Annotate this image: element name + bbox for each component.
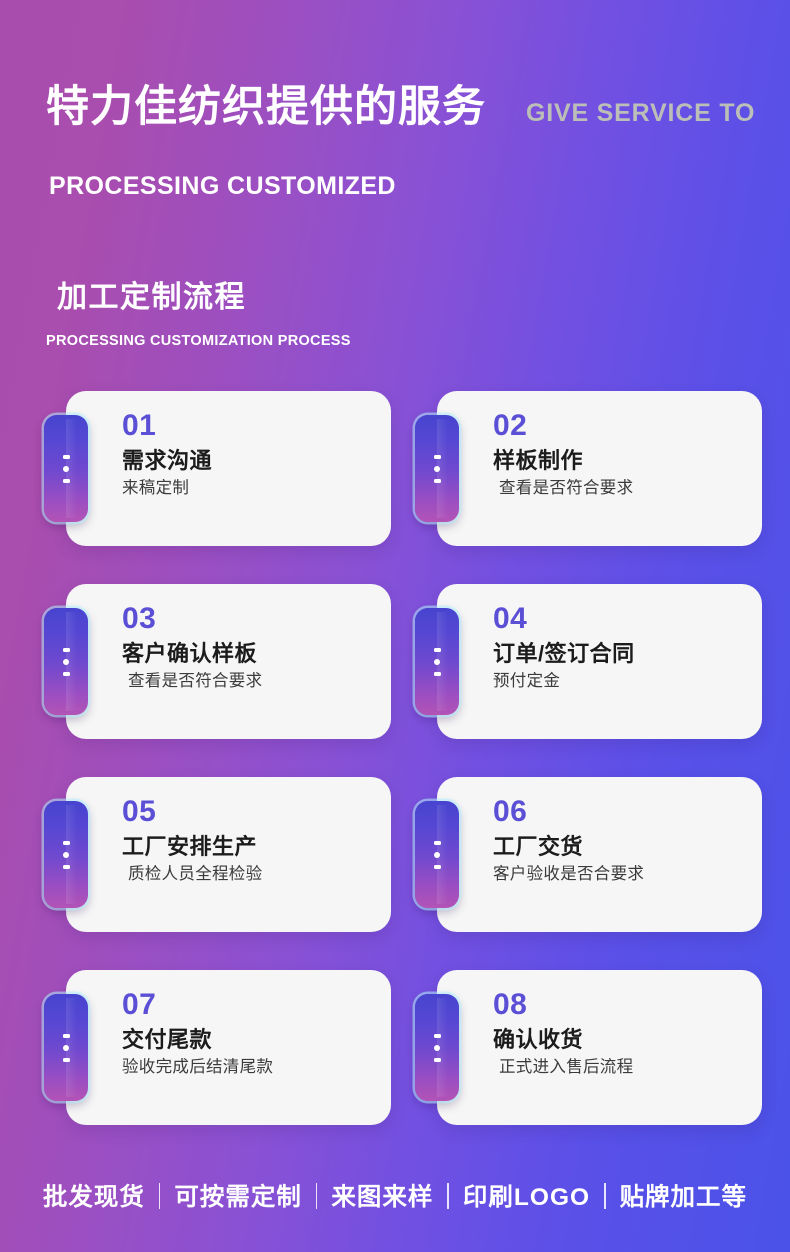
- step-number: 02: [493, 410, 752, 442]
- step-number: 03: [122, 603, 381, 635]
- dot-bottom: [434, 672, 441, 676]
- step-row: 03 客户确认样板 查看是否符合要求 04 订单/签订合同 预付定金: [0, 584, 790, 777]
- dot-bottom: [63, 672, 70, 676]
- step-cell: 01 需求沟通 来稿定制: [66, 391, 391, 546]
- three-dots-icon: [44, 994, 88, 1101]
- step-title: 工厂安排生产: [122, 833, 381, 861]
- step-card-body: 02 样板制作 查看是否符合要求: [493, 410, 752, 499]
- step-card-06[interactable]: 06 工厂交货 客户验收是否合要求: [437, 777, 762, 932]
- step-card-body: 06 工厂交货 客户验收是否合要求: [493, 796, 752, 885]
- step-number: 04: [493, 603, 752, 635]
- dot-middle: [63, 466, 69, 472]
- process-steps-grid: 01 需求沟通 来稿定制 02 样板制作 查看是否符合要求: [0, 391, 790, 1163]
- step-number: 07: [122, 989, 381, 1021]
- step-number: 08: [493, 989, 752, 1021]
- dot-bottom: [434, 479, 441, 483]
- dot-bottom: [63, 479, 70, 483]
- step-cell: 02 样板制作 查看是否符合要求: [437, 391, 762, 546]
- dot-bottom: [63, 865, 70, 869]
- step-description: 客户验收是否合要求: [493, 864, 752, 885]
- dot-middle: [63, 1045, 69, 1051]
- step-row: 05 工厂安排生产 质检人员全程检验 06 工厂交货 客户验收是否合要: [0, 777, 790, 970]
- step-card-07[interactable]: 07 交付尾款 验收完成后结清尾款: [66, 970, 391, 1125]
- dot-top: [434, 1034, 441, 1038]
- step-cell: 08 确认收货 正式进入售后流程: [437, 970, 762, 1125]
- dot-top: [434, 648, 441, 652]
- step-title: 需求沟通: [122, 447, 381, 475]
- dot-top: [63, 455, 70, 459]
- step-description: 查看是否符合要求: [122, 671, 381, 692]
- dot-middle: [434, 852, 440, 858]
- section-title-english: PROCESSING CUSTOMIZATION PROCESS: [46, 333, 351, 349]
- footer-item-0: 批发现货: [29, 1178, 159, 1213]
- header-title-row: 特力佳纺织提供的服务 GIVE SERVICE TO: [46, 83, 776, 131]
- step-row: 07 交付尾款 验收完成后结清尾款 08 确认收货 正式进入售后流程: [0, 970, 790, 1163]
- dot-middle: [434, 659, 440, 665]
- three-dots-icon: [415, 415, 459, 522]
- step-card-01[interactable]: 01 需求沟通 来稿定制: [66, 391, 391, 546]
- step-description: 预付定金: [493, 671, 752, 692]
- step-row: 01 需求沟通 来稿定制 02 样板制作 查看是否符合要求: [0, 391, 790, 584]
- dot-middle: [434, 1045, 440, 1051]
- step-card-05[interactable]: 05 工厂安排生产 质检人员全程检验: [66, 777, 391, 932]
- dot-middle: [63, 852, 69, 858]
- page-title-english: GIVE SERVICE TO: [526, 99, 755, 128]
- step-description: 质检人员全程检验: [122, 864, 381, 885]
- step-cell: 07 交付尾款 验收完成后结清尾款: [66, 970, 391, 1125]
- page-title: 特力佳纺织提供的服务: [46, 83, 486, 131]
- step-cell: 05 工厂安排生产 质检人员全程检验: [66, 777, 391, 932]
- step-card-body: 01 需求沟通 来稿定制: [122, 410, 381, 499]
- footer-item-4: 贴牌加工等: [606, 1178, 762, 1213]
- step-card-body: 08 确认收货 正式进入售后流程: [493, 989, 752, 1078]
- page-subtitle-english: PROCESSING CUSTOMIZED: [49, 172, 396, 201]
- three-dots-icon: [415, 994, 459, 1101]
- dot-top: [434, 455, 441, 459]
- footer-item-2: 来图来样: [317, 1178, 447, 1213]
- step-cell: 03 客户确认样板 查看是否符合要求: [66, 584, 391, 739]
- dot-top: [63, 841, 70, 845]
- step-card-08[interactable]: 08 确认收货 正式进入售后流程: [437, 970, 762, 1125]
- step-cell: 04 订单/签订合同 预付定金: [437, 584, 762, 739]
- step-card-body: 05 工厂安排生产 质检人员全程检验: [122, 796, 381, 885]
- step-title: 确认收货: [493, 1026, 752, 1054]
- step-card-02[interactable]: 02 样板制作 查看是否符合要求: [437, 391, 762, 546]
- three-dots-icon: [44, 608, 88, 715]
- step-title: 订单/签订合同: [493, 640, 752, 668]
- step-title: 样板制作: [493, 447, 752, 475]
- step-description: 查看是否符合要求: [493, 478, 752, 499]
- section-title: 加工定制流程: [57, 272, 246, 316]
- step-card-04[interactable]: 04 订单/签订合同 预付定金: [437, 584, 762, 739]
- dot-bottom: [434, 865, 441, 869]
- three-dots-icon: [415, 801, 459, 908]
- step-number: 06: [493, 796, 752, 828]
- step-description: 来稿定制: [122, 478, 381, 499]
- dot-top: [63, 1034, 70, 1038]
- step-cell: 06 工厂交货 客户验收是否合要求: [437, 777, 762, 932]
- step-number: 01: [122, 410, 381, 442]
- three-dots-icon: [44, 801, 88, 908]
- footer-item-1: 可按需定制: [160, 1178, 316, 1213]
- footer-services-bar: 批发现货 可按需定制 来图来样 印刷LOGO 贴牌加工等: [0, 1178, 790, 1213]
- step-card-body: 03 客户确认样板 查看是否符合要求: [122, 603, 381, 692]
- promo-page: 特力佳纺织提供的服务 GIVE SERVICE TO PROCESSING CU…: [0, 0, 790, 1252]
- step-description: 验收完成后结清尾款: [122, 1057, 381, 1078]
- three-dots-icon: [415, 608, 459, 715]
- dot-middle: [434, 466, 440, 472]
- dot-bottom: [434, 1058, 441, 1062]
- step-card-body: 04 订单/签订合同 预付定金: [493, 603, 752, 692]
- three-dots-icon: [44, 415, 88, 522]
- dot-middle: [63, 659, 69, 665]
- dot-top: [434, 841, 441, 845]
- step-title: 客户确认样板: [122, 640, 381, 668]
- step-card-03[interactable]: 03 客户确认样板 查看是否符合要求: [66, 584, 391, 739]
- footer-item-3: 印刷LOGO: [449, 1178, 604, 1213]
- dot-bottom: [63, 1058, 70, 1062]
- step-description: 正式进入售后流程: [493, 1057, 752, 1078]
- step-title: 工厂交货: [493, 833, 752, 861]
- step-card-body: 07 交付尾款 验收完成后结清尾款: [122, 989, 381, 1078]
- dot-top: [63, 648, 70, 652]
- step-title: 交付尾款: [122, 1026, 381, 1054]
- step-number: 05: [122, 796, 381, 828]
